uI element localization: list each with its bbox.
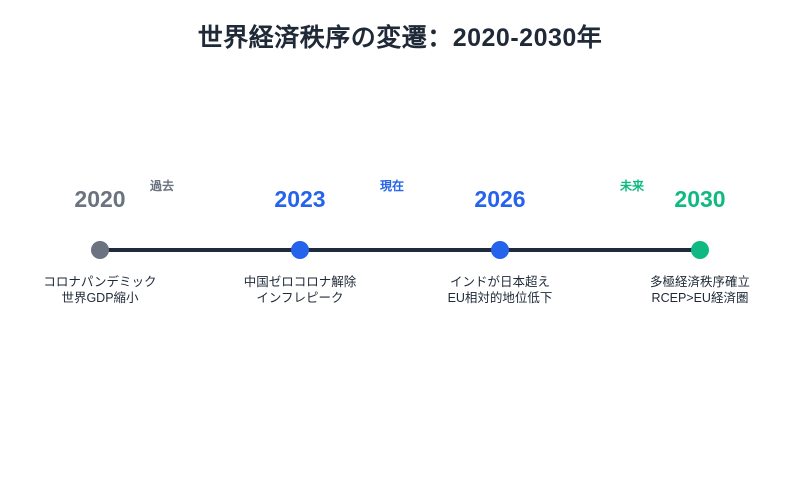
timeline-events-2023: 中国ゼロコロナ解除インフレピーク: [190, 274, 410, 306]
timeline-era-label: 過去: [117, 177, 207, 194]
timeline-canvas: 世界経済秩序の変遷：2020-2030年 2020コロナパンデミック世界GDP縮…: [0, 0, 800, 500]
timeline-dot-2026[interactable]: [491, 241, 509, 259]
timeline-year-label: 2026: [410, 186, 590, 213]
timeline-event-line: 中国ゼロコロナ解除: [190, 274, 410, 290]
timeline-event-line: EU相対的地位低下: [390, 290, 610, 306]
page-title: 世界経済秩序の変遷：2020-2030年: [0, 18, 800, 54]
timeline-axis-line: [100, 248, 700, 252]
timeline-event-line: コロナパンデミック: [0, 274, 210, 290]
timeline-dot-2030[interactable]: [691, 241, 709, 259]
timeline-era-label: 未来: [587, 177, 677, 194]
timeline-dot-2023[interactable]: [291, 241, 309, 259]
timeline-events-2020: コロナパンデミック世界GDP縮小: [0, 274, 210, 306]
timeline-dot-2020[interactable]: [91, 241, 109, 259]
timeline-events-2026: インドが日本超えEU相対的地位低下: [390, 274, 610, 306]
timeline-event-line: 多極経済秩序確立: [590, 274, 800, 290]
timeline-event-line: インドが日本超え: [390, 274, 610, 290]
timeline-event-line: 世界GDP縮小: [0, 290, 210, 306]
timeline-events-2030: 多極経済秩序確立RCEP>EU経済圏: [590, 274, 800, 306]
timeline-event-line: インフレピーク: [190, 290, 410, 306]
timeline-event-line: RCEP>EU経済圏: [590, 290, 800, 306]
